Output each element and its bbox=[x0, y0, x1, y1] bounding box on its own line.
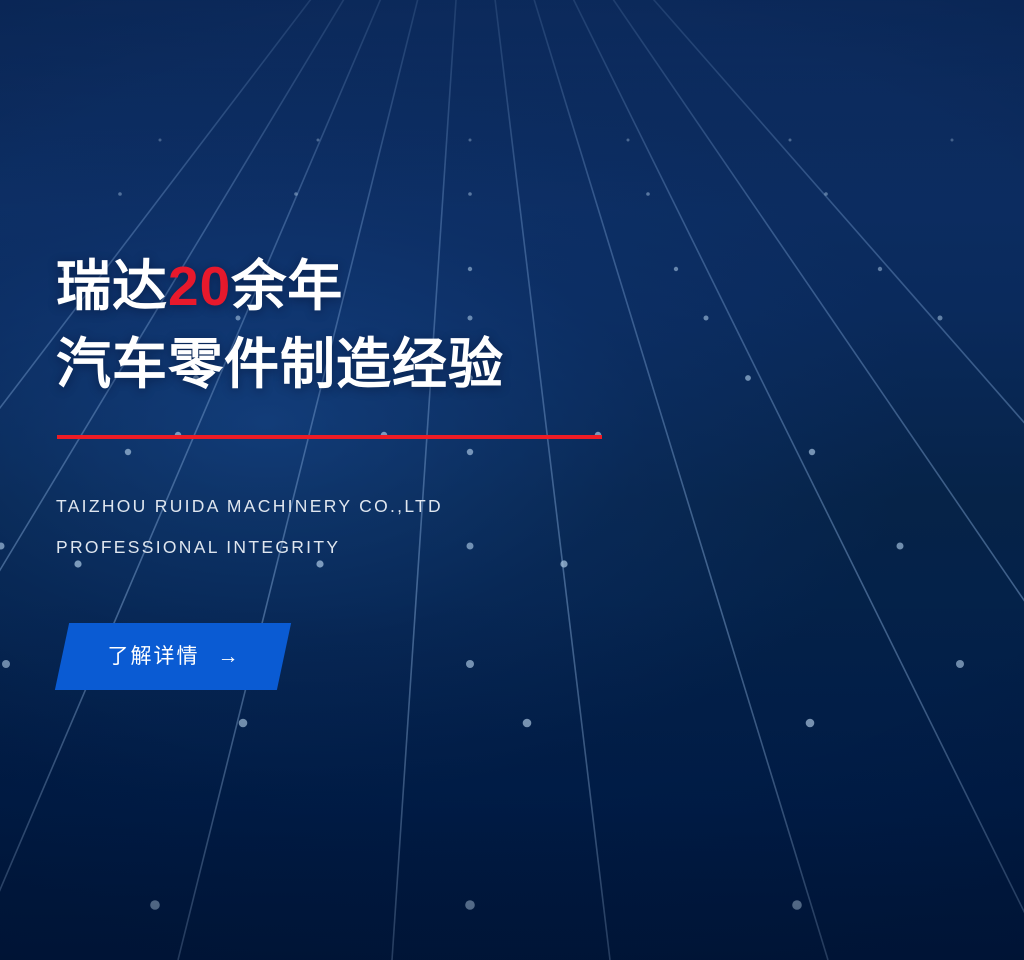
headline-number: 20 bbox=[168, 255, 231, 317]
cta-inner: 了解详情 → bbox=[108, 646, 239, 667]
red-divider-rule bbox=[57, 435, 602, 439]
cta-container: 了解详情 → bbox=[62, 623, 284, 690]
headline-prefix: 瑞达 bbox=[56, 255, 168, 317]
hero-content: 瑞达20余年 汽车零件制造经验 TAIZHOU RUIDA MACHINERY … bbox=[56, 0, 816, 960]
hero-banner: 瑞达20余年 汽车零件制造经验 TAIZHOU RUIDA MACHINERY … bbox=[0, 0, 1024, 960]
headline: 瑞达20余年 汽车零件制造经验 bbox=[56, 247, 816, 403]
learn-more-button[interactable]: 了解详情 → bbox=[62, 623, 284, 690]
subtitle-line-2: PROFESSIONAL INTEGRITY bbox=[56, 527, 816, 568]
headline-line-1: 瑞达20余年 bbox=[56, 247, 816, 325]
subtitle: TAIZHOU RUIDA MACHINERY CO.,LTD PROFESSI… bbox=[56, 486, 816, 568]
headline-line-2: 汽车零件制造经验 bbox=[56, 325, 816, 403]
headline-suffix: 余年 bbox=[231, 255, 343, 317]
subtitle-line-1: TAIZHOU RUIDA MACHINERY CO.,LTD bbox=[56, 486, 816, 527]
arrow-right-icon: → bbox=[218, 646, 239, 667]
cta-label: 了解详情 bbox=[108, 646, 200, 667]
